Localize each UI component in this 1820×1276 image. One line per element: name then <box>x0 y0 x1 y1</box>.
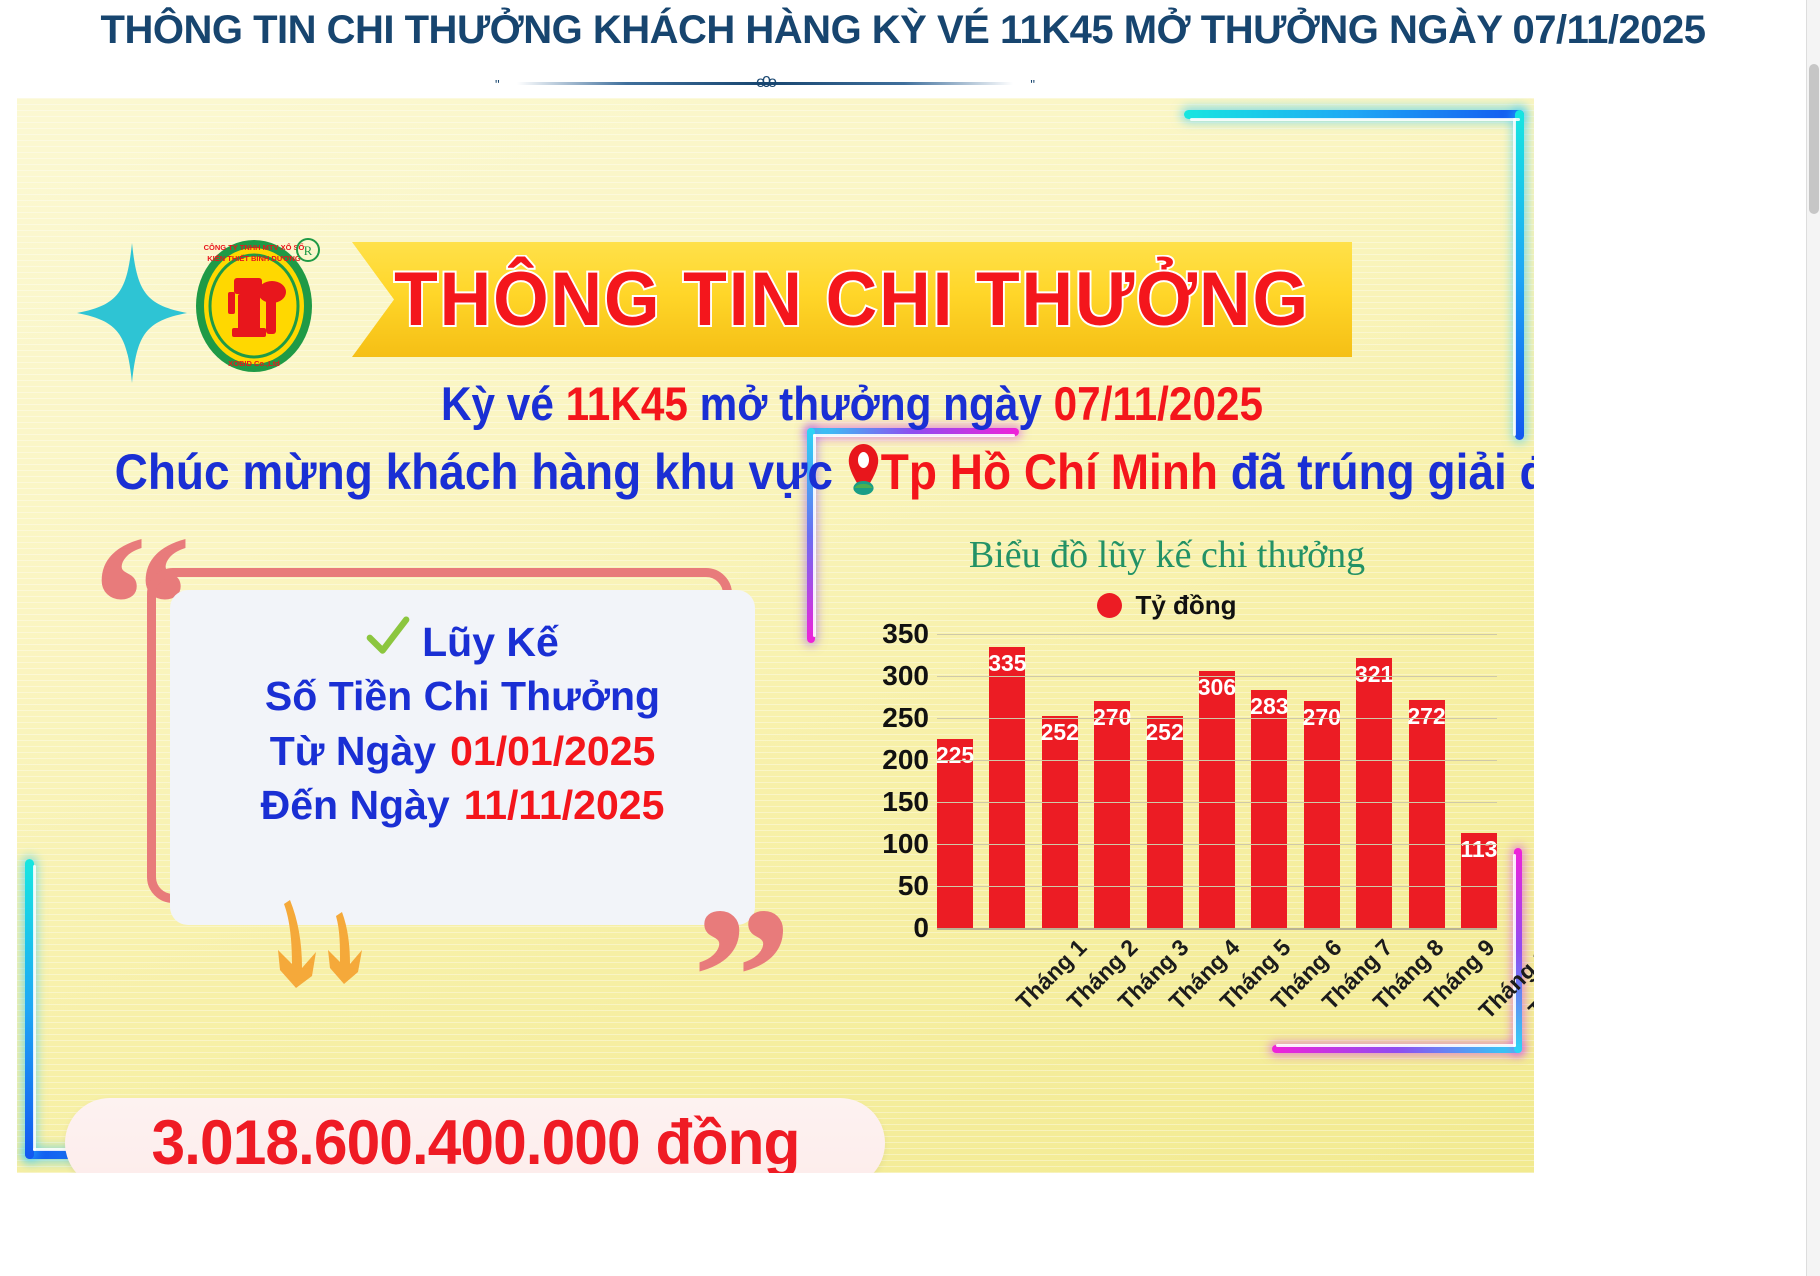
card-label-luy-ke: Lũy Kế <box>422 616 559 668</box>
chart-y-axis: 050100150200250300350 <box>857 634 929 928</box>
subtitle-1-part-1: Kỳ vé <box>441 377 566 430</box>
gridline <box>937 676 1497 677</box>
card-line-luy-ke: Lũy Kế <box>366 616 559 668</box>
header-divider: " o0o " <box>495 74 1035 92</box>
double-arrow-down-icon <box>272 898 382 988</box>
bar-value-label: 225 <box>936 742 974 769</box>
card-line-from-date: Từ Ngày01/01/2025 <box>270 725 656 777</box>
bar-value-label: 252 <box>1145 719 1183 746</box>
y-tick-label: 0 <box>857 912 929 944</box>
chart-bar <box>1147 716 1183 928</box>
legend-label: Tỷ đồng <box>1135 590 1236 621</box>
bar-value-label: 335 <box>988 650 1026 677</box>
check-icon <box>366 616 410 668</box>
y-tick-label: 300 <box>857 660 929 692</box>
subtitle-2-part-1: Chúc mừng khách hàng khu vực <box>115 444 846 500</box>
poster-canvas: CÔNG TY TNHH MTV XỔ SỐ KIẾN THIẾT BÌNH D… <box>17 98 1534 1173</box>
to-date-label: Đến Ngày <box>261 782 450 828</box>
from-date-label: Từ Ngày <box>270 728 436 774</box>
bar-column: 321 <box>1356 634 1392 928</box>
gridline <box>937 802 1497 803</box>
chart-title: Biểu đồ lũy kế chi thưởng <box>857 533 1477 577</box>
chart-bar <box>1042 716 1078 928</box>
bar-value-label: 306 <box>1198 674 1236 701</box>
accumulated-payout-card: “ Lũy Kế Số Tiền Chi Thưởng Từ Ngày01/01… <box>92 528 792 928</box>
bar-value-label: 283 <box>1250 693 1288 720</box>
legend-marker-icon <box>1097 593 1122 618</box>
y-tick-label: 50 <box>857 870 929 902</box>
page-header: THÔNG TIN CHI THƯỞNG KHÁCH HÀNG KỲ VÉ 11… <box>0 0 1806 96</box>
chart-bar <box>1304 701 1340 928</box>
page-scrollbar[interactable] <box>1806 0 1820 1276</box>
chart-bars: 225335252270252306283270321272113 <box>937 634 1497 928</box>
chart-x-axis-line <box>937 928 1497 930</box>
gridline <box>937 634 1497 635</box>
svg-text:CÔNG TY TNHH MTV XỔ SỐ: CÔNG TY TNHH MTV XỔ SỐ <box>204 242 305 252</box>
card-line-to-date: Đến Ngày11/11/2025 <box>261 779 665 831</box>
chart-bar <box>1199 671 1235 928</box>
svg-text:XOBID Co.,Ltd: XOBID Co.,Ltd <box>228 359 280 368</box>
bar-column: 252 <box>1147 634 1183 928</box>
gridline <box>937 886 1497 887</box>
chart-legend: Tỷ đồng <box>857 590 1477 621</box>
y-tick-label: 350 <box>857 618 929 650</box>
bar-column: 225 <box>937 634 973 928</box>
y-tick-label: 100 <box>857 828 929 860</box>
chart-bar <box>1409 700 1445 928</box>
sparkle-icon <box>77 243 187 383</box>
chart-bar <box>1251 690 1287 928</box>
bar-column: 283 <box>1251 634 1287 928</box>
to-date-value: 11/11/2025 <box>464 782 665 828</box>
bar-value-label: 113 <box>1460 836 1497 863</box>
y-tick-label: 200 <box>857 744 929 776</box>
bar-column: 252 <box>1042 634 1078 928</box>
chart-plot-area: 225335252270252306283270321272113 <box>937 634 1497 928</box>
bar-value-label: 252 <box>1041 719 1079 746</box>
cumulative-payout-chart: Biểu đồ lũy kế chi thưởng Tỷ đồng 050100… <box>817 498 1517 1058</box>
bar-value-label: 272 <box>1407 703 1445 730</box>
total-amount-value: 3.018.600.400.000 đồng <box>151 1107 799 1173</box>
card-line-amount-label: Số Tiền Chi Thưởng <box>265 670 660 722</box>
gridline <box>937 760 1497 761</box>
divider-dot-right: " <box>1030 78 1035 91</box>
bar-column: 270 <box>1094 634 1130 928</box>
divider-knot-icon: o0o <box>756 75 774 91</box>
winner-region: Tp Hồ Chí Minh <box>881 444 1218 500</box>
svg-text:KIẾN THIẾT BÌNH DƯƠNG: KIẾN THIẾT BÌNH DƯƠNG <box>207 253 301 263</box>
chart-bar <box>1094 701 1130 928</box>
bar-column: 270 <box>1304 634 1340 928</box>
bar-value-label: 321 <box>1355 661 1393 688</box>
subtitle-1-part-2: mở thưởng ngày <box>688 377 1054 430</box>
ticket-code: 11K45 <box>566 377 688 430</box>
from-date-value: 01/01/2025 <box>450 728 655 774</box>
gridline <box>937 718 1497 719</box>
y-tick-label: 250 <box>857 702 929 734</box>
divider-dot-left: " <box>495 78 500 91</box>
company-logo: CÔNG TY TNHH MTV XỔ SỐ KIẾN THIẾT BÌNH D… <box>192 228 322 376</box>
svg-text:R: R <box>304 243 313 258</box>
bar-column: 272 <box>1409 634 1445 928</box>
gridline <box>937 844 1497 845</box>
quote-close-mark: ” <box>692 900 802 990</box>
bar-column: 335 <box>989 634 1025 928</box>
page-title: THÔNG TIN CHI THƯỞNG KHÁCH HÀNG KỲ VÉ 11… <box>0 8 1806 53</box>
bar-column: 306 <box>1199 634 1235 928</box>
subtitle-draw-info: Kỳ vé 11K45 mở thưởng ngày 07/11/2025 <box>402 376 1302 431</box>
subtitle-2-part-2: đã trúng giải đặc biệt <box>1218 444 1534 500</box>
chart-x-axis: Tháng 1Tháng 2Tháng 3Tháng 4Tháng 5Tháng… <box>937 934 1497 1054</box>
scrollbar-thumb[interactable] <box>1809 64 1819 214</box>
title-banner: THÔNG TIN CHI THƯỞNG <box>352 242 1352 357</box>
y-tick-label: 150 <box>857 786 929 818</box>
banner-title: THÔNG TIN CHI THƯỞNG <box>382 242 1322 357</box>
quote-card-surface: Lũy Kế Số Tiền Chi Thưởng Từ Ngày01/01/2… <box>170 590 755 925</box>
chart-bar <box>1356 658 1392 928</box>
chart-plot-wrapper: 050100150200250300350 225335252270252306… <box>857 634 1497 1054</box>
draw-date: 07/11/2025 <box>1054 377 1263 430</box>
total-amount-pill: 3.018.600.400.000 đồng <box>65 1098 885 1173</box>
bar-column: 113 <box>1461 634 1497 928</box>
